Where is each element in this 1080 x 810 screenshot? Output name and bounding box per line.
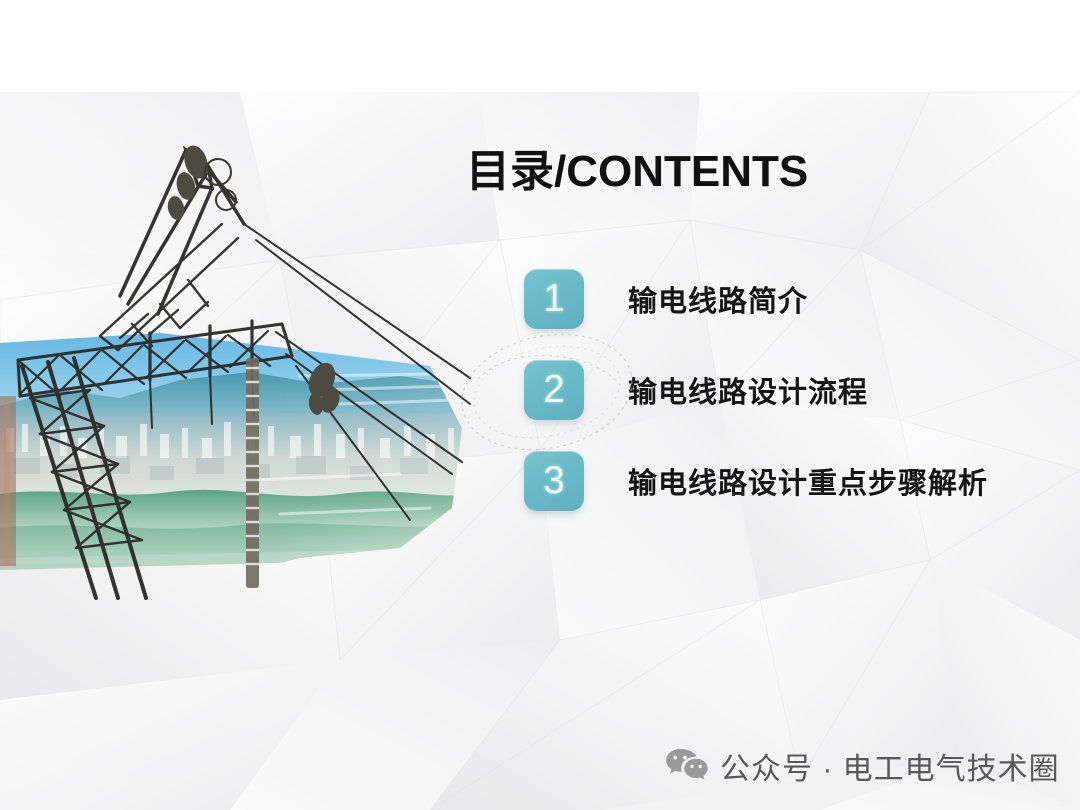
transmission-tower-photo [0,128,500,608]
page-title: 目录/CONTENTS [466,148,808,196]
agenda-number-2: 2 [543,370,565,409]
agenda-item-1[interactable]: 1 输电线路简介 [524,268,1044,330]
agenda-label-1: 输电线路简介 [628,278,808,320]
agenda-number-badge-1: 1 [524,269,584,329]
agenda-item-3[interactable]: 3 输电线路设计重点步骤解析 [524,450,1044,512]
agenda-item-2[interactable]: 2 输电线路设计流程 [524,359,1044,421]
presentation-slide: 目录/CONTENTS 1 输电线路简介 2 输电线路设计流程 3 输电线路设计 [0,0,1080,810]
footer-text: 公众号 · 电工电气技术圈 [720,744,1060,788]
agenda-number-badge-3: 3 [524,451,584,511]
wechat-icon [664,746,710,786]
agenda-number-badge-2: 2 [524,360,584,420]
agenda-number-3: 3 [543,461,565,500]
agenda-list: 1 输电线路简介 2 输电线路设计流程 3 输电线路设计重点步骤解析 [524,268,1044,541]
agenda-number-1: 1 [543,279,565,318]
agenda-label-3: 输电线路设计重点步骤解析 [628,460,988,502]
footer-watermark: 公众号 · 电工电气技术圈 [664,744,1060,788]
agenda-label-2: 输电线路设计流程 [628,369,868,411]
